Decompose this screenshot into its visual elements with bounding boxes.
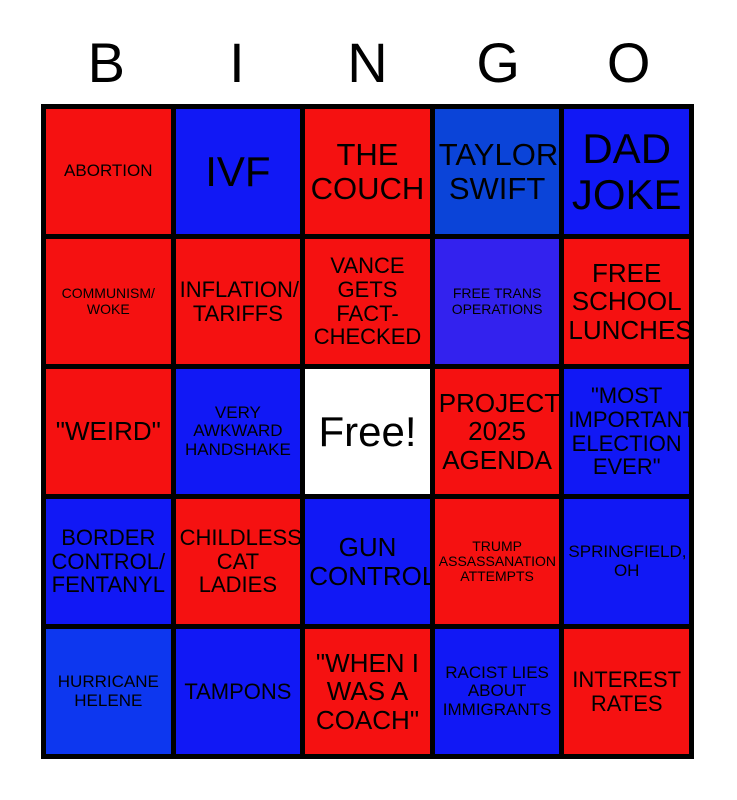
bingo-cell[interactable]: RACIST LIES ABOUT IMMIGRANTS — [435, 629, 560, 754]
bingo-cell[interactable]: FREE SCHOOL LUNCHES — [564, 239, 689, 364]
bingo-cell[interactable]: COMMUNISM/ WOKE — [46, 239, 171, 364]
bingo-cell[interactable]: VERY AWKWARD HANDSHAKE — [176, 369, 301, 494]
bingo-cell[interactable]: PROJECT 2025 AGENDA — [435, 369, 560, 494]
bingo-cell-label: FREE SCHOOL LUNCHES — [566, 259, 687, 343]
bingo-cell-label: "MOST IMPORTANT ELECTION EVER" — [566, 384, 687, 479]
bingo-cell-label: FREE TRANS OPERATIONS — [437, 286, 558, 316]
bingo-cell-label: BORDER CONTROL/ FENTANYL — [48, 526, 169, 597]
bingo-cell[interactable]: "MOST IMPORTANT ELECTION EVER" — [564, 369, 689, 494]
bingo-cell[interactable]: IVF — [176, 109, 301, 234]
bingo-cell-label: Free! — [307, 409, 428, 454]
bingo-cell[interactable]: DAD JOKE — [564, 109, 689, 234]
bingo-cell-label: TRUMP ASSASSANATION ATTEMPTS — [437, 539, 558, 584]
bingo-cell-label: "WHEN I WAS A COACH" — [307, 649, 428, 733]
bingo-cell[interactable]: CHILDLESS CAT LADIES — [176, 499, 301, 624]
bingo-cell[interactable]: BORDER CONTROL/ FENTANYL — [46, 499, 171, 624]
bingo-cell[interactable]: GUN CONTROL — [305, 499, 430, 624]
bingo-cell-label: PROJECT 2025 AGENDA — [437, 389, 558, 473]
bingo-cell[interactable]: INFLATION/ TARIFFS — [176, 239, 301, 364]
bingo-cell[interactable]: SPRINGFIELD, OH — [564, 499, 689, 624]
bingo-card: B I N G O ABORTIONIVFTHE COUCHTAYLOR SWI… — [0, 0, 737, 800]
bingo-cell[interactable]: TAYLOR SWIFT — [435, 109, 560, 234]
bingo-cell[interactable]: THE COUCH — [305, 109, 430, 234]
bingo-cell-label: DAD JOKE — [566, 126, 687, 217]
bingo-cell-label: ABORTION — [48, 162, 169, 180]
bingo-cell-label: TAYLOR SWIFT — [437, 138, 558, 205]
header-letter-n: N — [302, 35, 433, 91]
bingo-cell-label: VERY AWKWARD HANDSHAKE — [178, 404, 299, 459]
bingo-cell-label: SPRINGFIELD, OH — [566, 543, 687, 580]
bingo-cell-label: INTEREST RATES — [566, 668, 687, 716]
bingo-cell[interactable]: HURRICANE HELENE — [46, 629, 171, 754]
bingo-grid: ABORTIONIVFTHE COUCHTAYLOR SWIFTDAD JOKE… — [41, 104, 694, 759]
bingo-cell-label: RACIST LIES ABOUT IMMIGRANTS — [437, 664, 558, 719]
bingo-cell-label: COMMUNISM/ WOKE — [48, 286, 169, 316]
bingo-cell-label: THE COUCH — [307, 138, 428, 205]
header-letter-g: G — [433, 35, 564, 91]
bingo-cell-label: "WEIRD" — [48, 417, 169, 445]
bingo-cell[interactable]: TRUMP ASSASSANATION ATTEMPTS — [435, 499, 560, 624]
bingo-cell-label: TAMPONS — [178, 680, 299, 704]
header-letter-o: O — [563, 35, 694, 91]
bingo-cell-label: IVF — [178, 149, 299, 194]
bingo-cell[interactable]: ABORTION — [46, 109, 171, 234]
bingo-header: B I N G O — [41, 27, 694, 99]
bingo-cell[interactable]: "WHEN I WAS A COACH" — [305, 629, 430, 754]
bingo-cell-label: GUN CONTROL — [307, 533, 428, 589]
bingo-cell[interactable]: TAMPONS — [176, 629, 301, 754]
bingo-cell[interactable]: FREE TRANS OPERATIONS — [435, 239, 560, 364]
bingo-cell-label: CHILDLESS CAT LADIES — [178, 526, 299, 597]
header-letter-b: B — [41, 35, 172, 91]
bingo-cell-label: INFLATION/ TARIFFS — [178, 278, 299, 326]
bingo-cell[interactable]: "WEIRD" — [46, 369, 171, 494]
header-letter-i: I — [172, 35, 303, 91]
bingo-cell[interactable]: INTEREST RATES — [564, 629, 689, 754]
bingo-cell-label: VANCE GETS FACT- CHECKED — [307, 254, 428, 349]
bingo-cell[interactable]: Free! — [305, 369, 430, 494]
bingo-cell[interactable]: VANCE GETS FACT- CHECKED — [305, 239, 430, 364]
bingo-cell-label: HURRICANE HELENE — [48, 673, 169, 710]
